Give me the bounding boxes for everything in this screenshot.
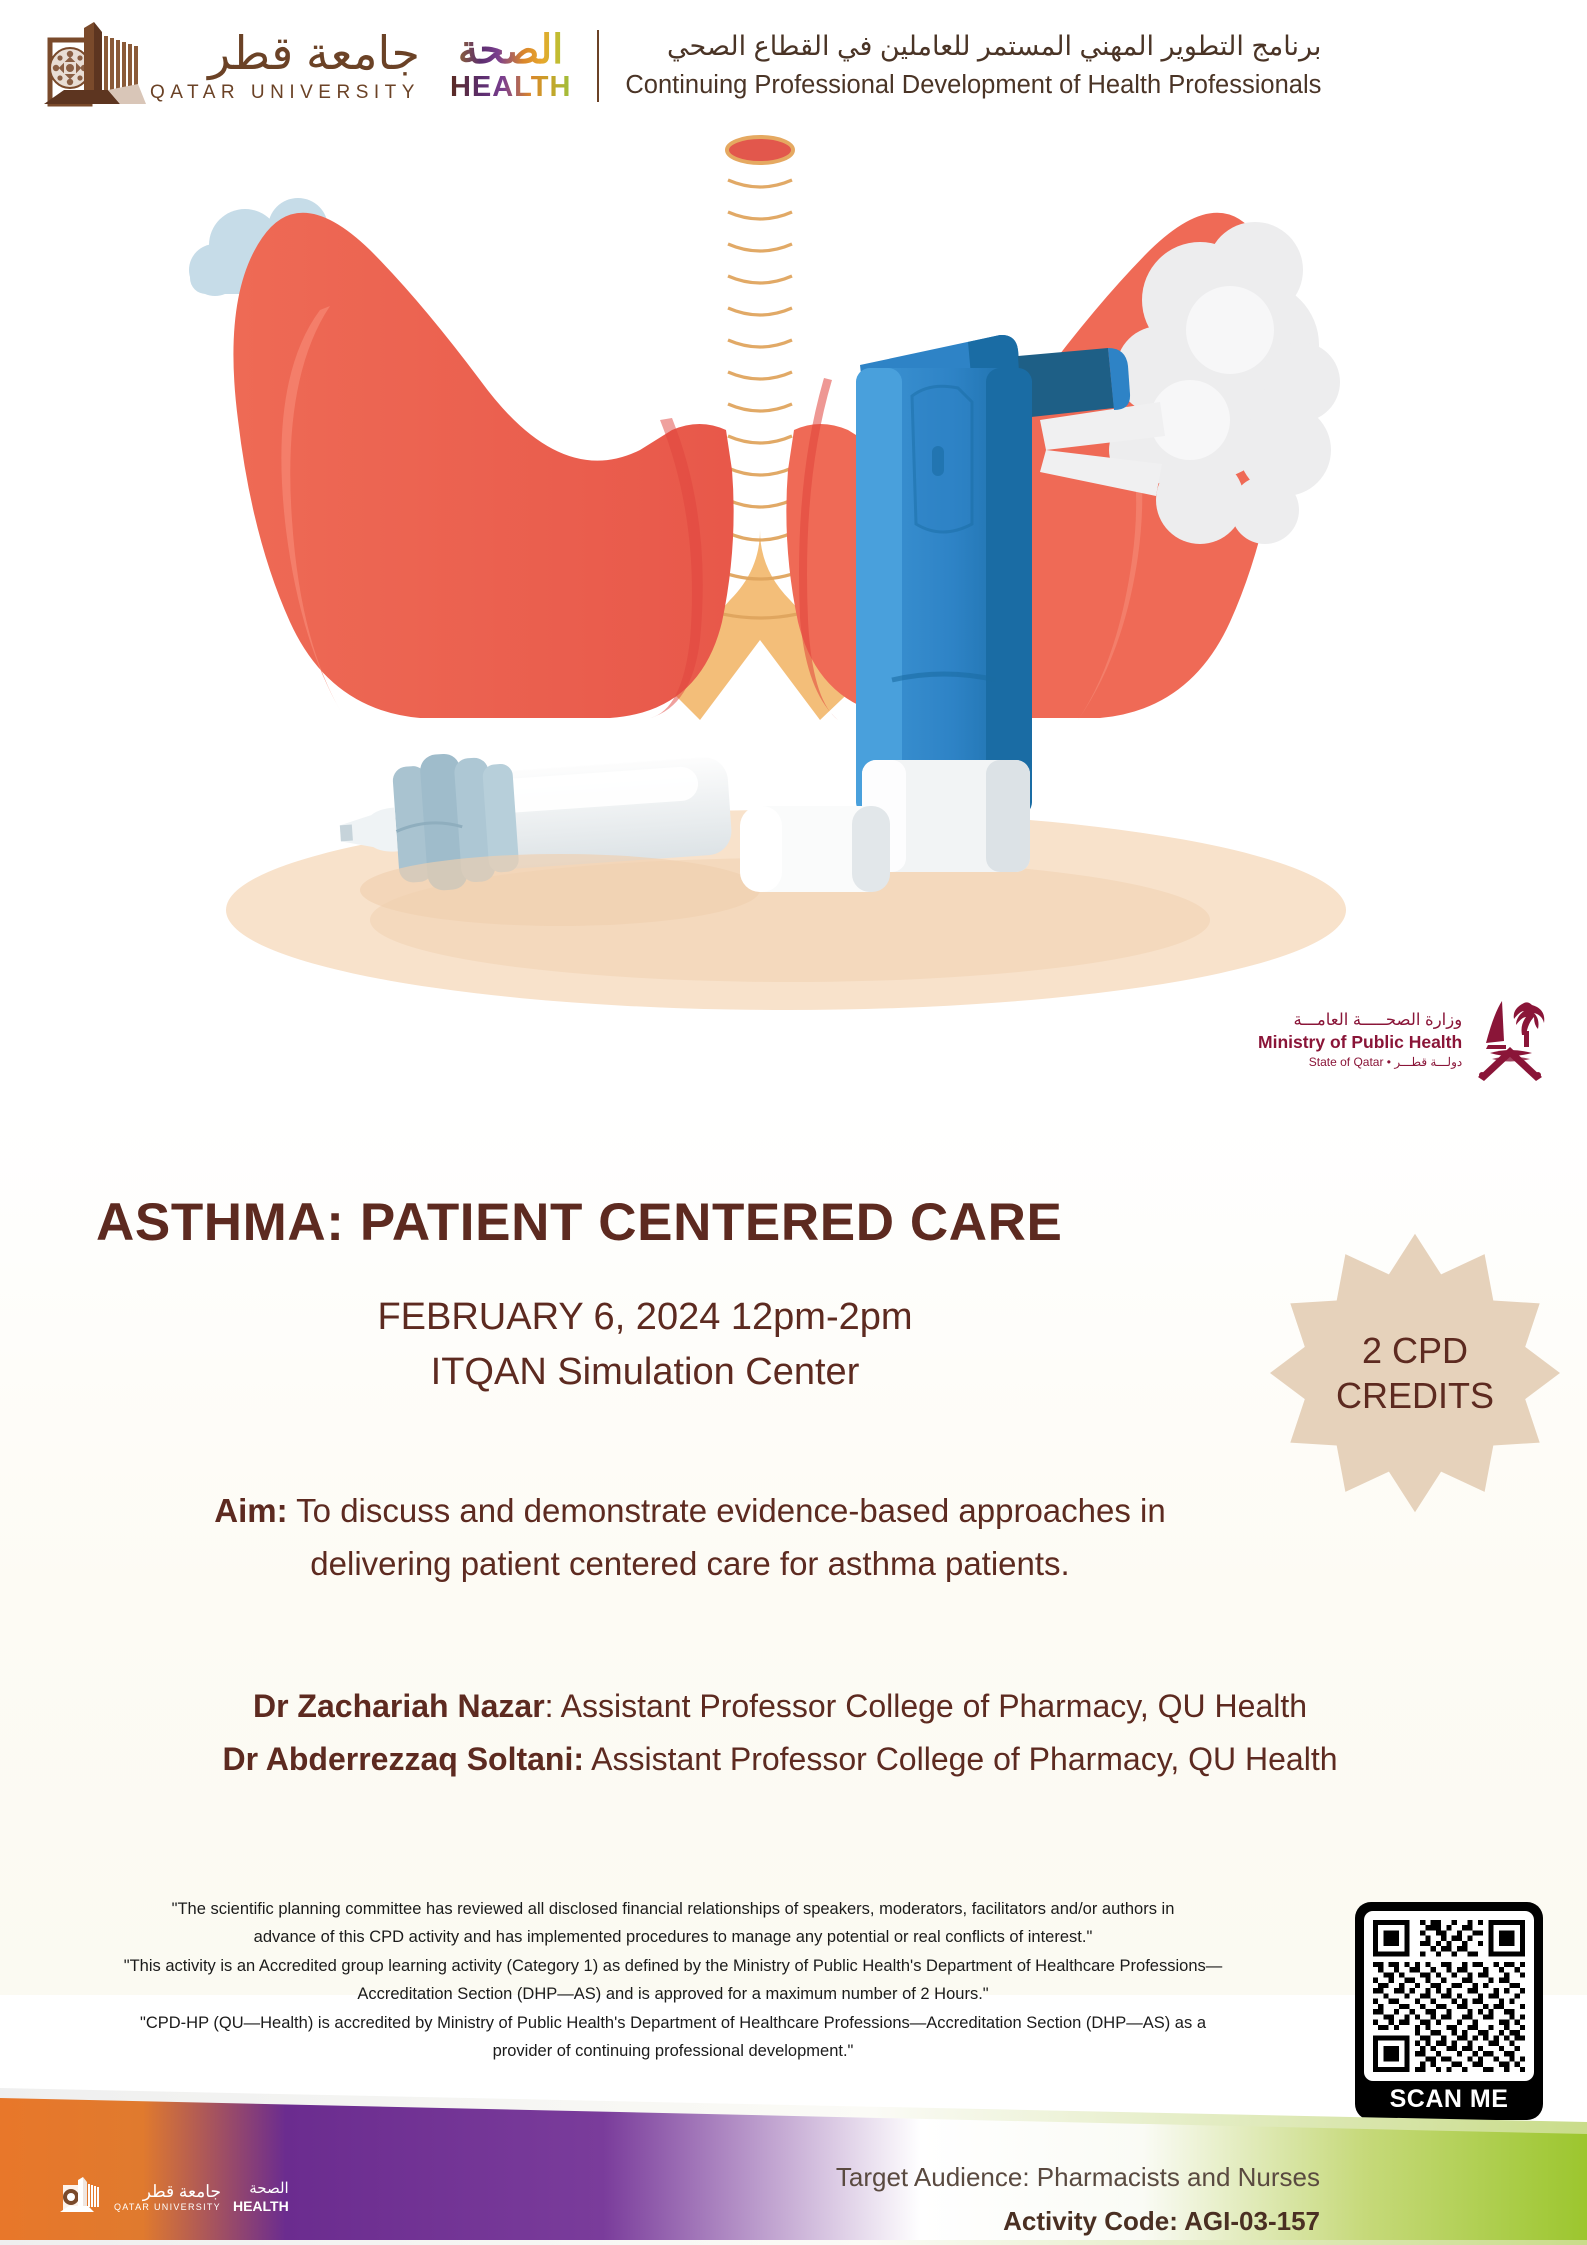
- qu-english-name: QATAR UNIVERSITY: [150, 83, 420, 102]
- lungs-illustration: [0, 120, 1587, 1020]
- speaker-name: Dr Zachariah Nazar: [253, 1688, 545, 1724]
- event-datetime: FEBRUARY 6, 2024 12pm-2pm: [0, 1290, 1290, 1345]
- disclaimer-line: "The scientific planning committee has r…: [28, 1895, 1318, 1923]
- health-arabic-name: الصحة: [458, 30, 563, 70]
- qr-code-icon[interactable]: [1364, 1911, 1534, 2081]
- target-audience-text: Target Audience: Pharmacists and Nurses: [0, 2162, 1320, 2193]
- ministry-of-public-health-logo: وزارة الصحـــــة العامـــة Ministry of P…: [1258, 995, 1548, 1086]
- speaker-name: Dr Abderrezzaq Soltani:: [222, 1741, 584, 1777]
- cpd-program-name: برنامج التطوير المهني المستمر للعاملين ف…: [625, 30, 1321, 102]
- speaker-row: Dr Abderrezzaq Soltani: Assistant Profes…: [40, 1733, 1520, 1786]
- cpd-credits-line2: CREDITS: [1336, 1373, 1494, 1418]
- qatar-university-mark-icon: [42, 18, 150, 114]
- speaker-title: Assistant Professor College of Pharmacy,…: [561, 1688, 1307, 1724]
- page-title: ASTHMA: PATIENT CENTERED CARE: [96, 1192, 1396, 1253]
- aim-section: Aim: To discuss and demonstrate evidence…: [70, 1485, 1310, 1591]
- cpd-credits-label: 2 CPD CREDITS: [1270, 1228, 1560, 1518]
- disclaimer-line: Accreditation Section (DHP—AS) and is ap…: [28, 1980, 1318, 2008]
- speaker-row: Dr Zachariah Nazar: Assistant Professor …: [40, 1680, 1520, 1733]
- aim-label: Aim:: [214, 1492, 287, 1529]
- disclaimer-line: "CPD-HP (QU—Health) is accredited by Min…: [28, 2009, 1318, 2037]
- moph-text: وزارة الصحـــــة العامـــة Ministry of P…: [1258, 1011, 1462, 1069]
- cpd-credits-line1: 2 CPD: [1362, 1328, 1468, 1373]
- qatar-university-logo: جامعة قطر QATAR UNIVERSITY: [42, 18, 420, 114]
- cpd-english-text: Continuing Professional Development of H…: [625, 70, 1321, 102]
- qu-health-logo: الصحة HEALTH: [450, 30, 571, 102]
- aim-text-line1: To discuss and demonstrate evidence-base…: [288, 1492, 1166, 1529]
- moph-english-name: Ministry of Public Health: [1258, 1032, 1462, 1053]
- moph-arabic-name: وزارة الصحـــــة العامـــة: [1294, 1011, 1463, 1030]
- qatar-university-wordmark: جامعة قطر QATAR UNIVERSITY: [150, 30, 420, 102]
- disclaimer-line: "This activity is an Accredited group le…: [28, 1952, 1318, 1980]
- disclaimer-line: provider of continuing professional deve…: [28, 2037, 1318, 2065]
- cpd-credits-badge: 2 CPD CREDITS: [1270, 1228, 1560, 1518]
- disclaimer-text: "The scientific planning committee has r…: [28, 1895, 1318, 2065]
- qu-arabic-name: جامعة قطر: [166, 30, 420, 76]
- speakers-section: Dr Zachariah Nazar: Assistant Professor …: [40, 1680, 1520, 1786]
- qatar-state-emblem-icon: [1472, 995, 1548, 1086]
- cpd-arabic-text: برنامج التطوير المهني المستمر للعاملين ف…: [625, 30, 1321, 64]
- event-venue: ITQAN Simulation Center: [0, 1345, 1290, 1400]
- aim-text-line2: delivering patient centered care for ast…: [310, 1545, 1069, 1582]
- speaker-separator: :: [545, 1688, 561, 1724]
- health-english-name: HEALTH: [450, 73, 571, 102]
- left-lung: [233, 213, 733, 718]
- inhaler-cap: [740, 806, 890, 892]
- speaker-title: Assistant Professor College of Pharmacy,…: [591, 1741, 1337, 1777]
- activity-code-text: Activity Code: AGI-03-157: [0, 2206, 1320, 2237]
- poster-header: جامعة قطر QATAR UNIVERSITY الصحة HEALTH …: [0, 0, 1587, 132]
- moph-state-line: State of Qatar • دولـــة قطـــر: [1309, 1055, 1462, 1069]
- disclaimer-line: advance of this CPD activity and has imp…: [28, 1923, 1318, 1951]
- nebulizer: [335, 749, 760, 926]
- header-divider: [597, 30, 599, 102]
- poster-root: جامعة قطر QATAR UNIVERSITY الصحة HEALTH …: [0, 0, 1587, 2245]
